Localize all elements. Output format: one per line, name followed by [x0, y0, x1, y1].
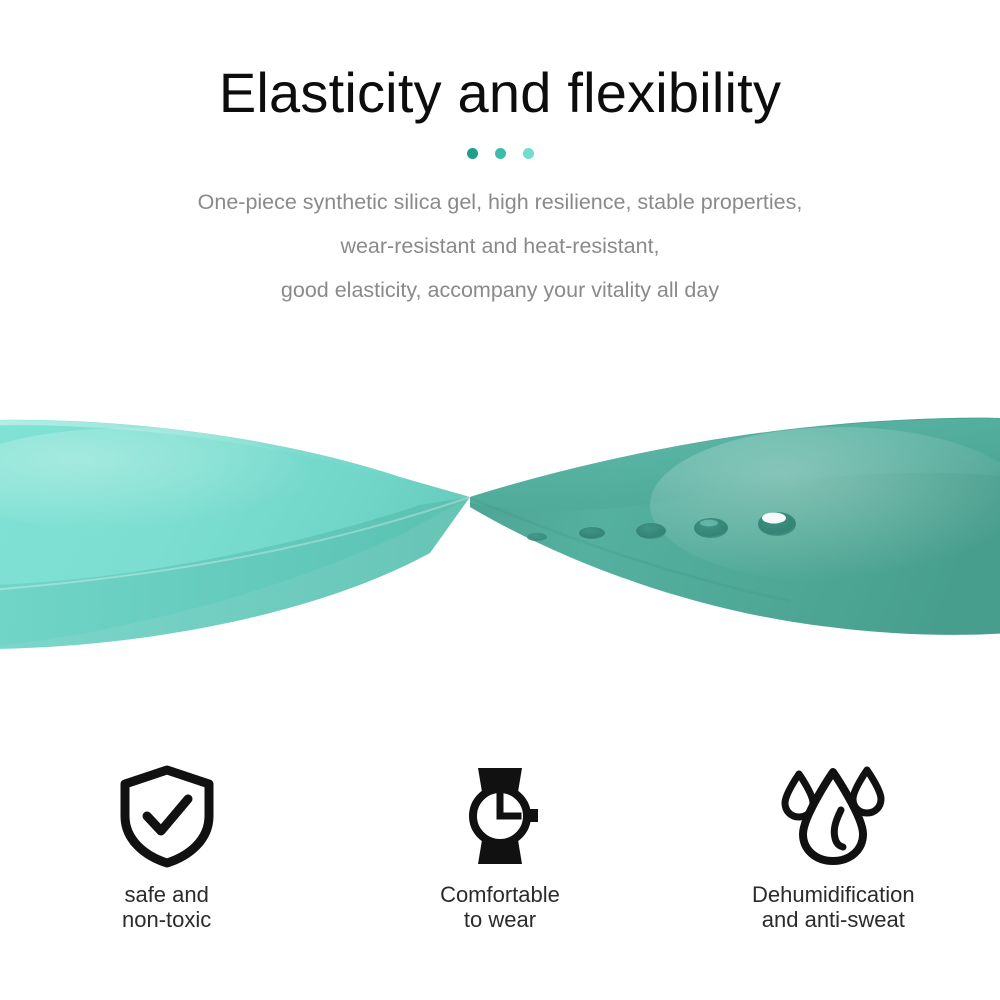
feature-label-comfortable: Comfortable to wear	[440, 882, 560, 932]
subtitle-line-3: good elasticity, accompany your vitality…	[0, 268, 1000, 312]
twisted-band-illustration	[0, 385, 1000, 685]
feature-label-dehumidification: Dehumidification and anti-sweat	[752, 882, 915, 932]
dot-divider	[0, 147, 1000, 161]
band-hole-2	[579, 527, 605, 539]
product-image	[0, 385, 1000, 685]
divider-dot-1	[467, 148, 478, 159]
band-hole-3	[636, 523, 666, 539]
band-hole-1	[527, 533, 547, 541]
feature-label-safe: safe and non-toxic	[122, 882, 211, 932]
subtitle-line-1: One-piece synthetic silica gel, high res…	[0, 180, 1000, 224]
shield-check-icon	[117, 762, 217, 870]
feature-list: safe and non-toxic Comfortable to wear	[0, 762, 1000, 932]
subtitle-line-2: wear-resistant and heat-resistant,	[0, 224, 1000, 268]
divider-dot-2	[495, 148, 506, 159]
feature-item-safe: safe and non-toxic	[0, 762, 333, 932]
subtitle-block: One-piece synthetic silica gel, high res…	[0, 180, 1000, 312]
feature-item-dehumidification: Dehumidification and anti-sweat	[667, 762, 1000, 932]
header-section: Elasticity and flexibility One-piece syn…	[0, 0, 1000, 312]
divider-dot-3	[523, 148, 534, 159]
water-drops-icon	[777, 762, 889, 870]
feature-item-comfortable: Comfortable to wear	[333, 762, 666, 932]
band-hole-5-specular	[762, 513, 786, 524]
wristwatch-icon	[450, 762, 550, 870]
band-hole-4-specular	[700, 520, 718, 527]
product-feature-page: Elasticity and flexibility One-piece syn…	[0, 0, 1000, 1000]
page-title: Elasticity and flexibility	[0, 62, 1000, 125]
